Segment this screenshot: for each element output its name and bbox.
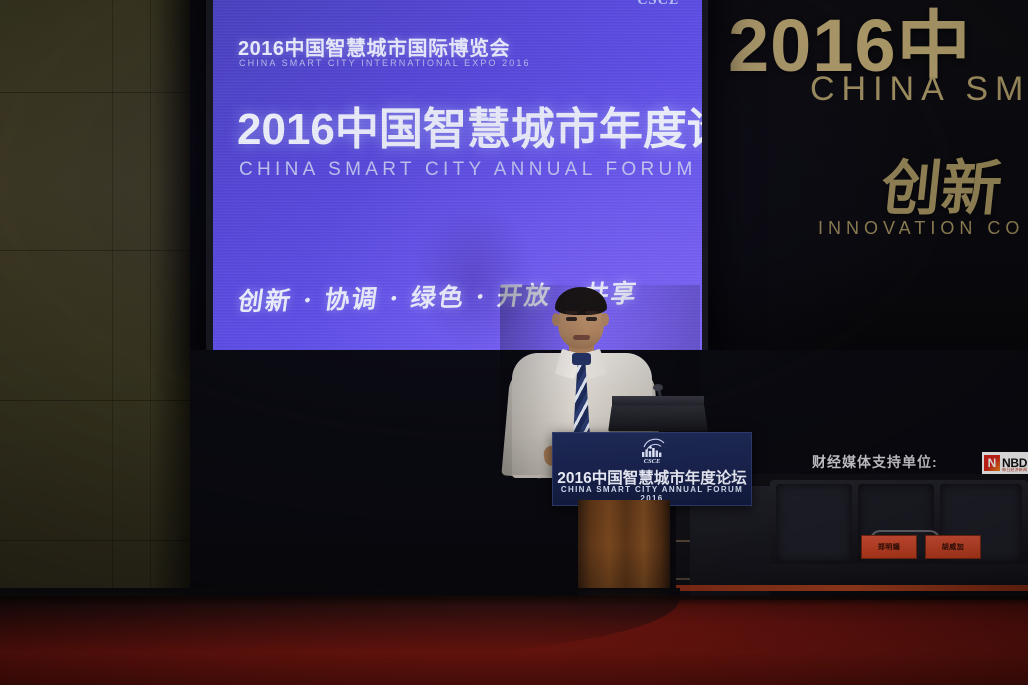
svg-text:CSCE: CSCE <box>644 458 661 464</box>
conference-stage-photo: 2016中 CHINA SM 创新 INNOVATION CO CSCE 201… <box>0 0 1028 685</box>
sofa-cushion <box>776 484 852 562</box>
forum-title-en: CHINA SMART CITY ANNUAL FORUM 2016 <box>239 159 702 181</box>
speaker-ear-right <box>601 313 609 326</box>
floor-lighting <box>0 596 1028 685</box>
forum-title-cn: 2016中国智慧城市年度论坛 <box>237 93 702 157</box>
right-wall-calligraphy: 创新 <box>877 140 1006 227</box>
name-card: 胡威加 <box>925 535 981 559</box>
media-sponsor-label: 财经媒体支持单位: <box>812 452 938 472</box>
speaker-brow-left <box>565 311 578 314</box>
riser-front-strip <box>676 585 1028 591</box>
nbd-logo-subtext: 每日经济新闻 <box>1002 467 1027 473</box>
right-wall-caption-en: INNOVATION CO <box>818 218 1024 239</box>
nbd-mark-icon: N <box>984 455 1000 471</box>
speaker-eye-left <box>566 317 577 321</box>
expo-title-en: CHINA SMART CITY INTERNATIONAL EXPO 2016 <box>239 58 531 68</box>
speaker-tie-knot <box>572 353 591 365</box>
nbd-logo: N NBD 每日经济新闻 <box>982 452 1028 474</box>
speaker-eye-right <box>586 317 597 321</box>
podium-sign: CSCE 2016中国智慧城市年度论坛 CHINA SMART CITY ANN… <box>552 432 752 506</box>
right-wall-title-en: CHINA SM <box>810 70 1028 109</box>
laptop <box>608 405 708 431</box>
expo-title-cn: 2016中国智慧城市国际博览会 <box>238 32 510 61</box>
csce-logo-icon: CSCE <box>630 438 674 464</box>
speaker-mouth <box>573 335 590 340</box>
csce-logo-text: CSCE <box>638 0 680 9</box>
name-card: 郑明媚 <box>861 535 917 559</box>
speaker-brow-right <box>585 311 598 314</box>
speaker-ear-left <box>552 313 560 326</box>
speaker-hair <box>555 287 607 315</box>
podium-microphone-head <box>653 384 663 391</box>
